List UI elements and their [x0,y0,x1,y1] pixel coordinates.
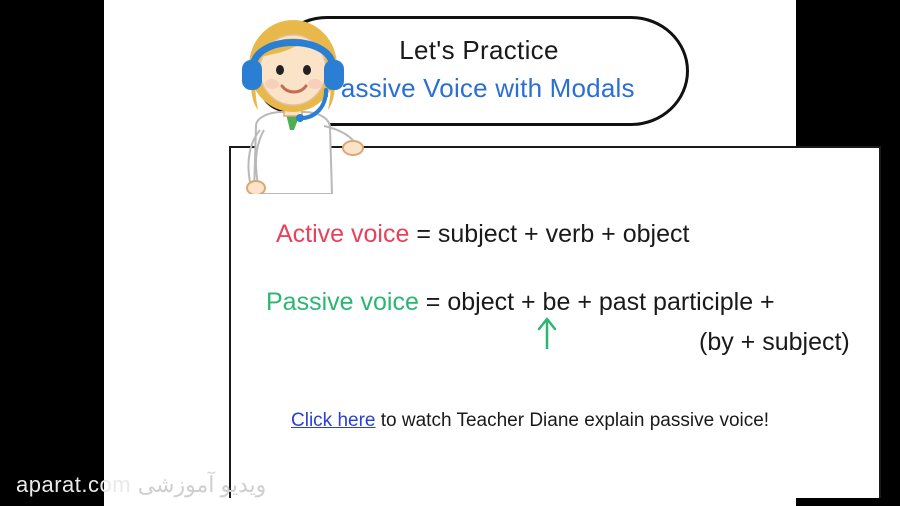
active-voice-label: Active voice [276,220,409,248]
content-box: Active voice = subject + verb + object P… [229,146,881,498]
slide-area: Let's Practice Passive Voice with Modals [104,0,796,506]
passive-voice-label: Passive voice [266,288,419,316]
passive-voice-line: Passive voice = object + be + past parti… [266,288,775,317]
avatar [220,14,365,194]
watermark-suffix: ویدیو آموزشی [131,472,266,497]
by-subject-text: (by + subject) [699,328,850,357]
active-voice-formula: subject + verb + object [438,220,690,248]
click-here-link[interactable]: Click here [291,410,375,431]
active-voice-line: Active voice = subject + verb + object [276,220,689,249]
link-row-rest: to watch Teacher Diane explain passive v… [375,410,769,431]
avatar-illustration [220,14,365,194]
video-frame: Let's Practice Passive Voice with Modals [0,0,900,506]
active-voice-equals: = [409,220,438,248]
passive-voice-formula: object + be + past participle + [447,288,774,316]
up-arrow-icon [536,316,558,350]
link-row: Click here to watch Teacher Diane explai… [291,410,769,432]
passive-voice-equals: = [419,288,448,316]
watermark: aparat.com ویدیو آموزشی [16,472,266,498]
watermark-text: aparat.com [16,472,131,497]
